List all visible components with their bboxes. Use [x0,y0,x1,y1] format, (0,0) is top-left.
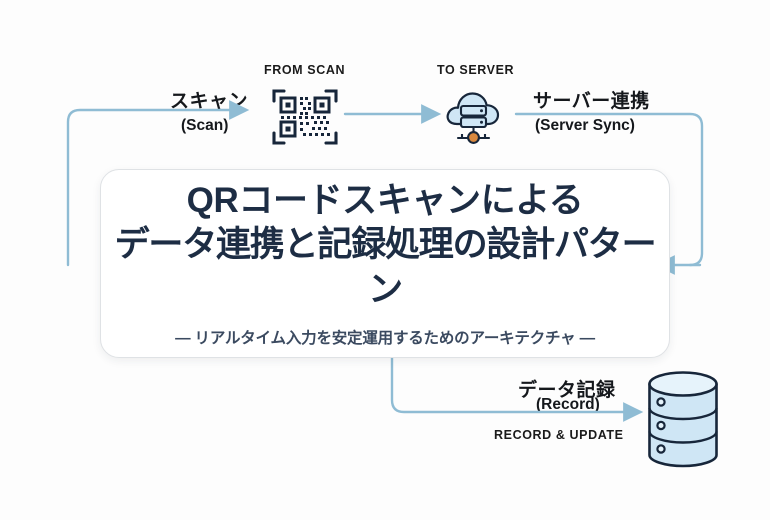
qr-code-icon [274,91,336,143]
diagram-canvas: FROM SCAN スキャン (Scan) TO SERVER サーバー連携 (… [0,0,770,520]
icon-layer [0,0,770,520]
database-icon [650,373,717,467]
cloud-server-icon [448,94,498,143]
